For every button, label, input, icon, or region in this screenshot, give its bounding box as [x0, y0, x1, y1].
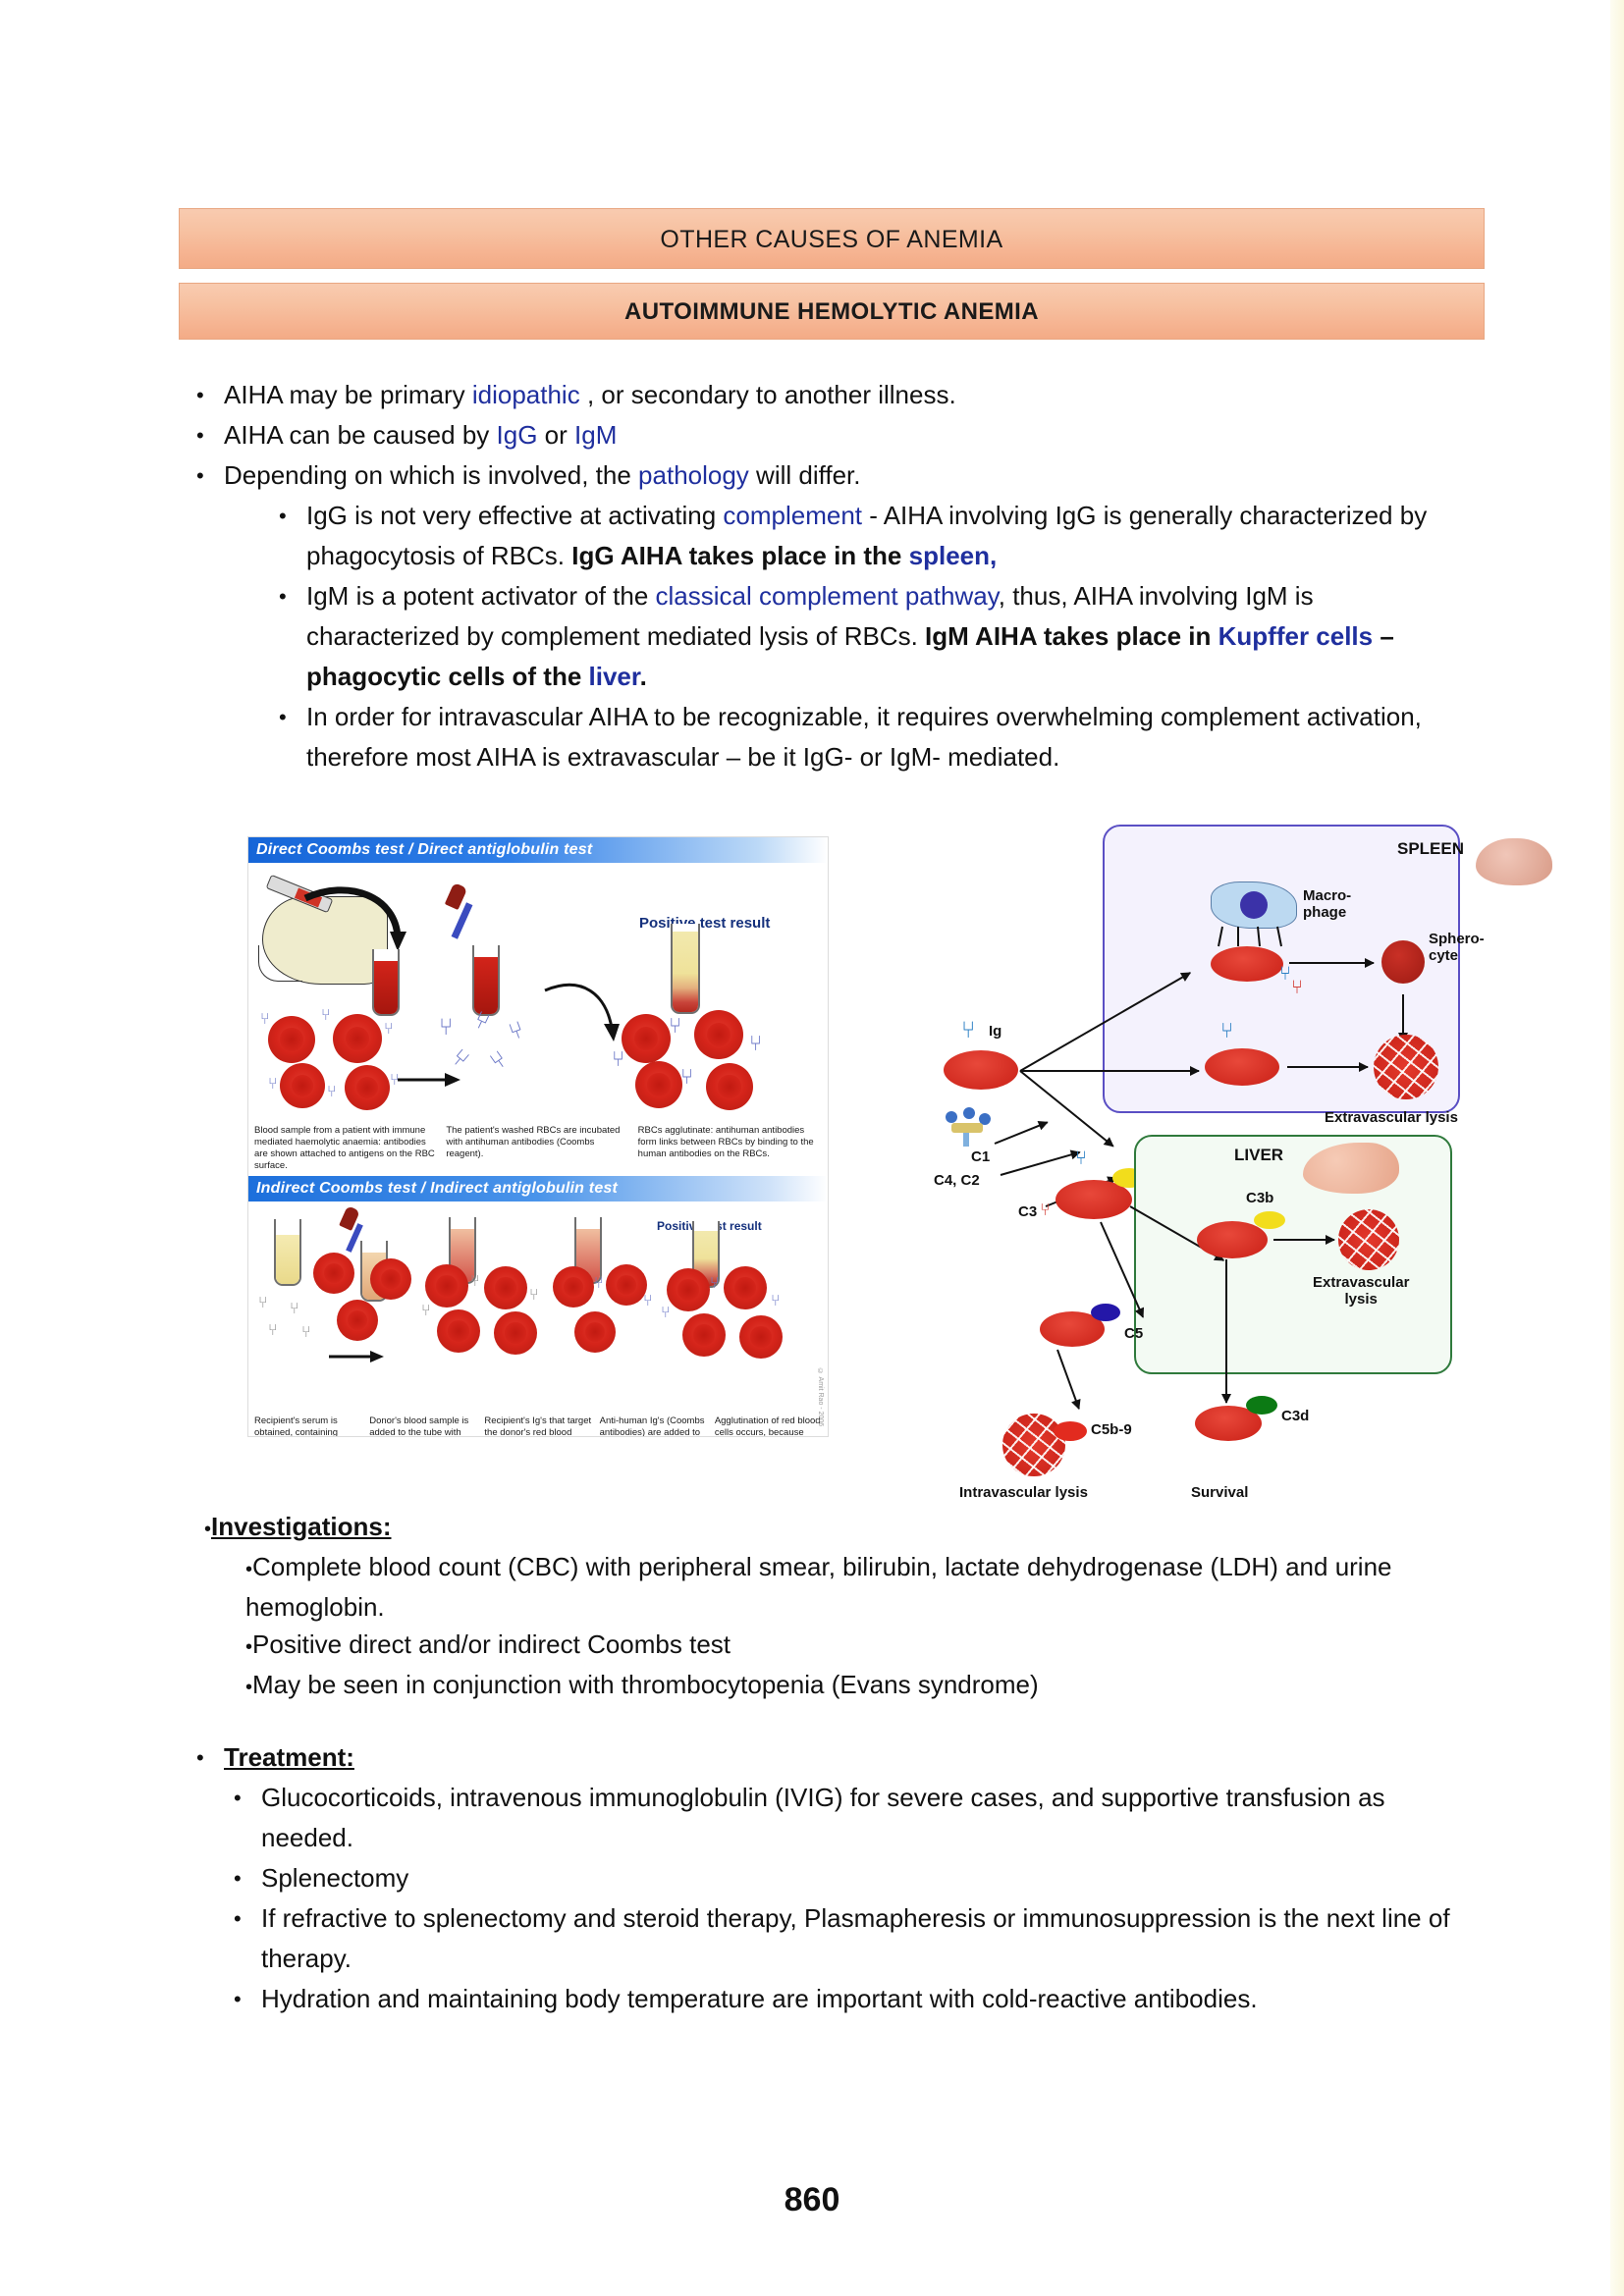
rbc [268, 1016, 315, 1063]
spleen-organ-icon [1476, 838, 1552, 885]
liver-compartment-box [1134, 1135, 1452, 1374]
rbc [337, 1300, 378, 1341]
extravascular-lysis-spleen-label: Extravascular lysis [1325, 1109, 1458, 1126]
document-page: OTHER CAUSES OF ANEMIA AUTOIMMUNE HEMOLY… [0, 0, 1624, 2296]
list-item: • AIHA may be primary idiopathic , or se… [196, 375, 1473, 415]
antibody-icon: ⑂ [1291, 980, 1303, 995]
bullet-glyph: • [279, 496, 306, 536]
rbc [280, 1063, 325, 1108]
bullet-glyph: • [279, 576, 306, 616]
investigations-item: Complete blood count (CBC) with peripher… [245, 1552, 1392, 1622]
c1-base [951, 1123, 983, 1133]
bullet-glyph: • [245, 1636, 252, 1658]
rbc [313, 1253, 354, 1294]
serum-fill [276, 1235, 299, 1284]
rbc-antibody-bound-spleen [1205, 1048, 1279, 1086]
list-item: • If refractive to splenectomy and stero… [234, 1898, 1461, 1979]
c1-head [963, 1107, 975, 1119]
rbc [574, 1311, 616, 1353]
subbullet-2-text: IgM is a potent activator of the classic… [306, 576, 1473, 697]
c5b9-marker [1054, 1421, 1087, 1441]
subbullet-1-part-1: IgG is not very effective at activating [306, 501, 723, 530]
c3d-marker [1246, 1396, 1277, 1415]
liver-label: LIVER [1234, 1147, 1283, 1163]
bullet-3-part-2: will differ. [749, 460, 861, 490]
bullet-2-highlight-igg: IgG [497, 420, 538, 450]
antibody-icon: ⑂ [594, 1276, 604, 1292]
investigations-item-row: •May be seen in conjunction with thrombo… [245, 1666, 1414, 1706]
bullet-1-part-2: , or secondary to another illness. [580, 380, 956, 409]
subbullet-2-bold-kupffer: Kupffer cells [1218, 621, 1374, 651]
antibody-icon: ⑂ [1279, 966, 1291, 982]
hand-fingers [258, 945, 302, 982]
antibody-icon: ⑂ [508, 1022, 526, 1041]
page-number: 860 [0, 2181, 1624, 2219]
antibody-icon: ⑂ [258, 1296, 268, 1311]
rbc [345, 1065, 390, 1110]
rbc [739, 1315, 783, 1359]
bullet-3-highlight: pathology [638, 460, 749, 490]
antibody-icon: ⑂ [327, 1085, 337, 1100]
list-item: • Hydration and maintaining body tempera… [234, 1979, 1461, 2019]
process-arrow-icon [398, 1071, 460, 1089]
bullet-glyph: • [234, 1979, 261, 2019]
bullet-2-part-1: AIHA can be caused by [224, 420, 497, 450]
ig-label: Ig [989, 1023, 1001, 1040]
subbullet-2-bold-1: IgM AIHA takes place in [925, 621, 1218, 651]
intravascular-lysed-rbc [1002, 1414, 1065, 1476]
bullet-glyph: • [245, 1677, 252, 1698]
intravascular-lysis-label: Intravascular lysis [959, 1484, 1088, 1501]
c1-complex-icon [944, 1111, 995, 1147]
c5-marker [1091, 1304, 1120, 1321]
rbc [667, 1268, 710, 1311]
rbc [606, 1264, 647, 1306]
caption: Donor's blood sample is added to the tub… [369, 1415, 476, 1437]
antibody-icon: ⑂ [643, 1294, 653, 1309]
antibody-icon: ⑂ [710, 1276, 720, 1292]
bullet-2-part-2: or [537, 420, 574, 450]
intro-bullet-list: • AIHA may be primary idiopathic , or se… [196, 375, 1473, 777]
antibody-icon: ⑂ [439, 1020, 453, 1036]
spleen-label: SPLEEN [1397, 840, 1464, 857]
subbullet-2-bold-3: . [640, 662, 647, 691]
rbc-cluster-direct-1: ⑂ ⑂ ⑂ ⑂ ⑂ ⑂ [260, 1012, 435, 1106]
blood-tube-1 [372, 949, 400, 1016]
treatment-section: • Treatment: • Glucocorticoids, intraven… [196, 1737, 1473, 2019]
bullet-1-text: AIHA may be primary idiopathic , or seco… [224, 375, 1473, 415]
investigations-item-row: •Complete blood count (CBC) with periphe… [245, 1548, 1414, 1626]
macrophage-nucleus-icon [1240, 891, 1268, 919]
serum-tube [274, 1219, 301, 1286]
rbc-liver-c3b [1197, 1221, 1268, 1258]
bullet-3-part-1: Depending on which is involved, the [224, 460, 638, 490]
rbc [682, 1313, 726, 1357]
rbc [494, 1311, 537, 1355]
antibody-icon: ⑂ [749, 1036, 762, 1051]
investigations-section: •Investigations: •Complete blood count (… [204, 1508, 1471, 1706]
page-edge-strip [1610, 0, 1624, 2296]
caption: Agglutination of red blood cells occurs,… [715, 1415, 822, 1437]
arrow-rbc-to-complement [1019, 1070, 1113, 1147]
transfer-arrow-icon [299, 884, 407, 955]
coombs-test-figure: Direct Coombs test / Direct antiglobulin… [247, 836, 829, 1437]
antibody-icon: ⑂ [268, 1077, 278, 1093]
antibody-icon: ⑂ [470, 1274, 480, 1290]
antibody-icon: ⑂ [612, 1051, 624, 1067]
rbc-agglutination-direct: ⑂ ⑂ ⑂ ⑂ [612, 1010, 808, 1108]
banner-secondary-title: AUTOIMMUNE HEMOLYTIC ANEMIA [624, 298, 1039, 325]
extravascular-lysed-rbc-spleen [1374, 1035, 1438, 1099]
bullet-1-highlight: idiopathic [472, 380, 580, 409]
subbullet-2-highlight-pathway: classical complement pathway [656, 581, 999, 611]
arrow-c5-to-c5b9 [1056, 1350, 1080, 1410]
investigations-item: May be seen in conjunction with thromboc… [252, 1670, 1039, 1699]
investigations-heading: Investigations: [211, 1512, 391, 1541]
spherocyte-icon [1381, 940, 1425, 984]
banner-primary-title: OTHER CAUSES OF ANEMIA [660, 226, 1002, 253]
investigations-heading-row: •Investigations: [204, 1508, 1471, 1548]
bullet-glyph: • [234, 1858, 261, 1898]
arrow-rbc-to-spleen-lower [1020, 1070, 1199, 1072]
indirect-coombs-art: ⑂ ⑂ ⑂ ⑂ [248, 1201, 828, 1414]
treatment-item: If refractive to splenectomy and steroid… [261, 1898, 1461, 1979]
direct-coombs-title-bar: Direct Coombs test / Direct antiglobulin… [248, 837, 828, 863]
list-item: • AIHA can be caused by IgG or IgM [196, 415, 1473, 455]
rbc [484, 1266, 527, 1309]
extravascular-lysis-liver-label: Extravascular lysis [1313, 1274, 1409, 1308]
subbullet-1-highlight-complement: complement [723, 501, 862, 530]
indirect-coombs-title-bar: Indirect Coombs test / Indirect antiglob… [248, 1176, 828, 1201]
antibody-icon: ⑂ [260, 1012, 270, 1028]
list-item: • In order for intravascular AIHA to be … [279, 697, 1473, 777]
arrow-liver-to-extravascular [1273, 1239, 1334, 1241]
subbullet-1-bold: IgG AIHA takes place in the [571, 541, 908, 570]
investigations-item: Positive direct and/or indirect Coombs t… [252, 1629, 731, 1659]
antibody-icon: ⑂ [489, 1050, 510, 1071]
antibody-icon: ⑂ [421, 1304, 431, 1319]
antibody-icon: ⑂ [680, 1069, 693, 1085]
treatment-heading: Treatment: [224, 1737, 354, 1778]
tube-agglutinate-fill [673, 932, 698, 1012]
rbc-source [944, 1050, 1018, 1090]
process-arrow-curved-icon [543, 981, 620, 1045]
arrow-liver-to-survival [1225, 1259, 1227, 1403]
macrophage-label: Macro- phage [1303, 887, 1351, 921]
indirect-coombs-title: Indirect Coombs test / Indirect antiglob… [256, 1180, 618, 1197]
c3b-marker-liver [1254, 1211, 1285, 1229]
rbc [333, 1014, 382, 1063]
indirect-coombs-captions: Recipient's serum is obtained, containin… [248, 1414, 828, 1437]
treatment-heading-row: • Treatment: [196, 1737, 1473, 1778]
subbullet-2-bold-liver: liver [589, 662, 640, 691]
rbc [694, 1010, 743, 1059]
c3d-label: C3d [1281, 1408, 1309, 1424]
arrow-to-spherocyte [1289, 962, 1374, 964]
bullet-2-text: AIHA can be caused by IgG or IgM [224, 415, 1473, 455]
subbullet-1-text: IgG is not very effective at activating … [306, 496, 1473, 576]
subbullet-3-text: In order for intravascular AIHA to be re… [306, 697, 1473, 777]
bullet-glyph: • [196, 375, 224, 415]
arrow-rbc-to-extravascular-lysis [1287, 1066, 1368, 1068]
rbc-cluster-indirect-3: ⑂ ⑂ [549, 1264, 667, 1362]
rbc [724, 1266, 767, 1309]
antibody-icon: ⑂ [1075, 1150, 1087, 1166]
antibody-icon: ⑂ [471, 1012, 491, 1033]
c3b-liver-label: C3b [1246, 1190, 1273, 1206]
arrow-c1-to-center [995, 1121, 1049, 1145]
rbc-cluster-indirect-2: ⑂ ⑂ ⑂ [421, 1264, 549, 1362]
c5-label: C5 [1124, 1325, 1143, 1342]
rbc-agglutination-indirect: ⑂ ⑂ ⑂ [661, 1266, 808, 1364]
c1-label: C1 [971, 1148, 990, 1165]
treatment-item: Glucocorticoids, intravenous immunoglobu… [261, 1778, 1461, 1858]
caption: Recipient's serum is obtained, containin… [254, 1415, 361, 1437]
caption: Recipient's Ig's that target the donor's… [484, 1415, 591, 1437]
antibody-icon: ⑂ [669, 1018, 681, 1034]
antibody-icon: ⑂ [384, 1022, 394, 1038]
antibody-icon: ⑂ [1220, 1023, 1233, 1039]
tube-2-blood-fill [474, 957, 498, 1014]
process-arrow-icon [329, 1349, 384, 1364]
positive-test-result-direct-label: Positive test result [639, 898, 770, 932]
bullet-glyph: • [196, 1737, 224, 1778]
extravascular-lysed-rbc-liver [1338, 1209, 1399, 1270]
antibody-icon: ⑂ [529, 1288, 539, 1304]
arrow-c4c2-to-center [1001, 1151, 1080, 1176]
bullet-glyph: • [196, 415, 224, 455]
rbc [425, 1264, 468, 1308]
list-item: • Depending on which is involved, the pa… [196, 455, 1473, 496]
antibody-icon: ⑂ [1040, 1201, 1051, 1217]
rbc [370, 1258, 411, 1300]
rbc [706, 1063, 753, 1110]
direct-coombs-art: ⑂ ⑂ ⑂ ⑂ ⑂ ⑂ ⑂ ⑂ ⑂ ⑂ ⑂ [248, 863, 828, 1123]
bullet-glyph: • [245, 1559, 252, 1580]
rbc [553, 1266, 594, 1308]
bullet-glyph: • [279, 697, 306, 737]
c4-c2-label: C4, C2 [934, 1172, 980, 1189]
tube-1-blood-fill [374, 961, 398, 1014]
survival-label: Survival [1191, 1484, 1248, 1501]
list-item: • IgM is a potent activator of the class… [279, 576, 1473, 697]
investigations-item-row: •Positive direct and/or indirect Coombs … [245, 1626, 1414, 1666]
bullet-glyph: • [234, 1898, 261, 1939]
direct-coombs-captions: Blood sample from a patient with immune … [248, 1123, 828, 1176]
treatment-item: Splenectomy [261, 1858, 1461, 1898]
antibody-icon: ⑂ [450, 1048, 470, 1070]
subbullet-2-part-1: IgM is a potent activator of the [306, 581, 656, 611]
subbullet-1-bold-spleen: spleen, [909, 541, 998, 570]
bullet-glyph: • [234, 1778, 261, 1818]
treatment-item: Hydration and maintaining body temperatu… [261, 1979, 1461, 2019]
bullet-2-highlight-igm: IgM [574, 420, 617, 450]
antibody-icon: ⑂ [961, 1023, 975, 1039]
banner-autoimmune-hemolytic-anemia: AUTOIMMUNE HEMOLYTIC ANEMIA [179, 283, 1485, 340]
antibody-icon: ⑂ [290, 1302, 299, 1317]
bullet-3-text: Depending on which is involved, the path… [224, 455, 1473, 496]
figure-credit: © Amit Rao - 2006 [817, 1368, 824, 1426]
c3-label: C3 [1018, 1203, 1037, 1220]
bullet-glyph: • [196, 455, 224, 496]
rbc-opsonized-spleen [1211, 946, 1283, 982]
caption: Blood sample from a patient with immune … [254, 1125, 438, 1172]
rbc [635, 1061, 682, 1108]
antibody-icon: ⑂ [321, 1008, 331, 1024]
rbc-cluster-indirect-1 [307, 1253, 425, 1351]
list-item: • Glucocorticoids, intravenous immunoglo… [234, 1778, 1461, 1858]
complement-pathway-figure: SPLEEN Macro- phage ⑂ ⑂ Sphero- cyte ⑂ E… [938, 830, 1468, 1518]
bullet-1-part-1: AIHA may be primary [224, 380, 472, 409]
antibody-icon: ⑂ [268, 1323, 278, 1339]
c5b9-label: C5b-9 [1091, 1421, 1132, 1438]
list-item: • IgG is not very effective at activatin… [279, 496, 1473, 576]
c1-head [946, 1111, 957, 1123]
antibody-icon: ⑂ [661, 1306, 671, 1321]
positive-result-tube-direct [671, 924, 700, 1014]
spherocyte-label: Sphero- cyte [1429, 931, 1485, 964]
caption: Anti-human Ig's (Coombs antibodies) are … [600, 1415, 707, 1437]
caption: RBCs agglutinate: antihuman antibodies f… [638, 1125, 822, 1172]
antibody-icon: ⑂ [771, 1294, 781, 1309]
banner-other-causes-of-anemia: OTHER CAUSES OF ANEMIA [179, 208, 1485, 269]
list-item: • Splenectomy [234, 1858, 1461, 1898]
rbc [622, 1014, 671, 1063]
bullet-glyph: • [204, 1519, 211, 1540]
direct-coombs-title: Direct Coombs test / Direct antiglobulin… [256, 841, 592, 858]
rbc [437, 1309, 480, 1353]
blood-tube-2 [472, 945, 500, 1016]
caption: The patient's washed RBCs are incubated … [446, 1125, 629, 1172]
